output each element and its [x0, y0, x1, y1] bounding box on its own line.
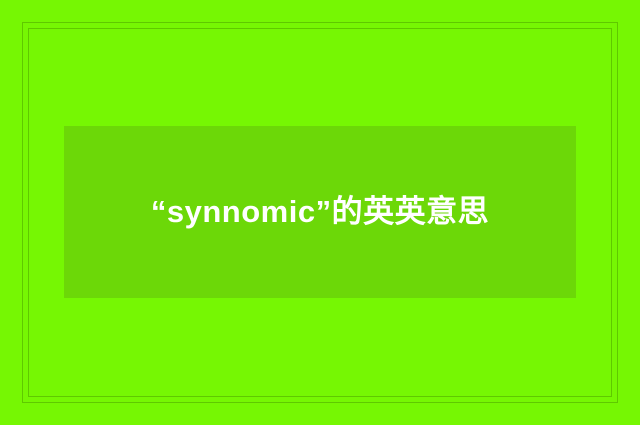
page-canvas: “synnomic”的英英意思 — [0, 0, 640, 425]
title-card: “synnomic”的英英意思 — [64, 126, 576, 298]
page-title: “synnomic”的英英意思 — [100, 181, 540, 243]
